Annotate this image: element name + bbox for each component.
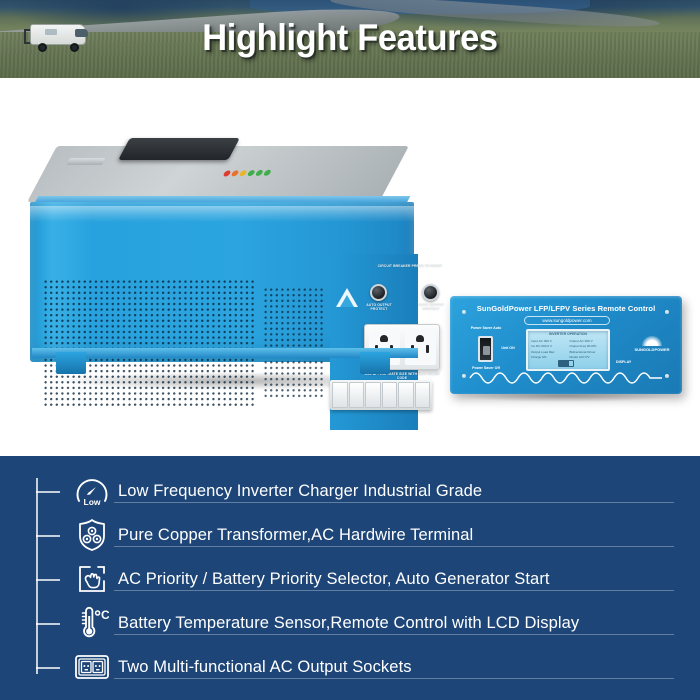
power-saver-auto-label: Power Saver Auto xyxy=(468,326,504,331)
brand-text: SUNGOLDPOWER xyxy=(632,347,672,352)
sungoldpower-logo: SUNGOLDPOWER xyxy=(632,336,672,362)
feature-underline-5 xyxy=(114,678,674,679)
feature-underline-3 xyxy=(114,590,674,591)
lcd-readout-grid: Input AC 000 V Output AC 000 V Inv DC 00… xyxy=(531,339,605,360)
remote-screw-top-right xyxy=(665,310,669,314)
inverter-unit: SGP CIRCUIT BREAKER PRESS TO RESET AUTO … xyxy=(28,140,438,400)
inverter-body-highlight xyxy=(30,206,414,222)
feature-tick-2 xyxy=(36,535,60,537)
remote-screw-top-left xyxy=(462,310,466,314)
feature-text: Two Multi-functional AC Output Sockets xyxy=(114,658,412,677)
socket-ground-pin xyxy=(416,335,424,342)
warning-triangle-inner xyxy=(340,295,354,307)
socket-slot-right xyxy=(426,345,429,353)
lcd-row: Output AC 000 V xyxy=(570,339,606,343)
feature-item-low-frequency[interactable]: Low Low Frequency Inverter Charger Indus… xyxy=(70,472,690,510)
lcd-row: Inv DC 000.0 V xyxy=(531,344,567,348)
lcd-row: Charge 0/0 xyxy=(531,355,567,359)
lcd-row: Bidirectional Driver xyxy=(570,350,606,354)
ac-hardwire-terminal-block xyxy=(330,380,432,410)
feature-tick-4 xyxy=(36,623,60,625)
breaker-1-label: AUTO OUTPUT PROTECT xyxy=(360,303,398,312)
remote-control-panel: SunGoldPower LFP/LFPV Series Remote Cont… xyxy=(450,296,682,394)
socket-ground-pin xyxy=(380,335,388,342)
features-panel: Low Low Frequency Inverter Charger Indus… xyxy=(0,456,700,700)
sine-wave-icon xyxy=(468,368,664,388)
feature-item-ac-output-sockets[interactable]: Two Multi-functional AC Output Sockets xyxy=(70,648,690,686)
lcd-battery-icon xyxy=(558,360,574,367)
gauge-low-frequency-icon: Low xyxy=(70,472,114,510)
feature-text: Battery Temperature Sensor,Remote Contro… xyxy=(114,614,579,633)
feature-text: Low Frequency Inverter Charger Industria… xyxy=(114,482,482,501)
highlight-features-infographic: Highlight Features SGP CIRCUIT BREAKER P… xyxy=(0,0,700,700)
header-banner: Highlight Features xyxy=(0,0,700,78)
remote-title: SunGoldPower LFP/LFPV Series Remote Cont… xyxy=(450,304,682,313)
feature-tick-1 xyxy=(36,491,60,493)
feature-tick-3 xyxy=(36,579,60,581)
inverter-body: SGP CIRCUIT BREAKER PRESS TO RESET AUTO … xyxy=(30,202,414,362)
dual-ac-socket-icon xyxy=(70,648,114,686)
lcd-row: Model LFP-PV xyxy=(570,355,606,359)
svg-text:C: C xyxy=(101,608,109,622)
breaker-2-label: AUTO OUTPUT PROTECT xyxy=(412,303,450,312)
shield-copper-transformer-icon xyxy=(70,516,114,554)
remote-url-label: www.sungoldpower.com xyxy=(524,316,610,325)
feature-text: AC Priority / Battery Priority Selector,… xyxy=(114,570,550,589)
feature-underline-1 xyxy=(114,502,674,503)
product-photo-area: SGP CIRCUIT BREAKER PRESS TO RESET AUTO … xyxy=(0,78,700,456)
circuit-breaker-button-2[interactable] xyxy=(422,284,439,301)
inverter-top-vent-slot xyxy=(66,158,106,165)
feature-underline-4 xyxy=(114,634,674,635)
circuit-breaker-reset-label: CIRCUIT BREAKER PRESS TO RESET xyxy=(360,264,460,268)
inverter-vent-grid-secondary xyxy=(264,288,324,400)
display-label: DISPLAY xyxy=(616,360,631,364)
sun-icon xyxy=(642,336,662,346)
page-title: Highlight Features xyxy=(25,17,676,59)
power-rocker-switch[interactable] xyxy=(478,336,493,362)
feature-item-copper-transformer[interactable]: Pure Copper Transformer,AC Hardwire Term… xyxy=(70,516,690,554)
lcd-row: Input AC 000 V xyxy=(531,339,567,343)
feature-underline-2 xyxy=(114,546,674,547)
feature-text: Pure Copper Transformer,AC Hardwire Term… xyxy=(114,526,473,545)
led-indicator-row xyxy=(222,169,288,177)
lcd-header: INVERTER OPERATION xyxy=(528,332,608,336)
thermometer-celsius-icon: C xyxy=(70,604,114,642)
unit-on-label: Unit ON xyxy=(496,346,520,351)
feature-item-temperature-sensor[interactable]: C Battery Temperature Sensor,Remote Cont… xyxy=(70,604,690,642)
inverter-mounting-foot-right xyxy=(360,352,390,374)
circuit-breaker-button-1[interactable] xyxy=(370,284,387,301)
lcd-row: Output Load 0kw xyxy=(531,350,567,354)
remote-screw-bottom-right xyxy=(665,374,669,378)
battery-terminal-cover xyxy=(118,138,240,160)
lcd-row: Output Freq 00.0Hz xyxy=(570,344,606,348)
hand-selector-icon xyxy=(70,560,114,598)
feature-tick-5 xyxy=(36,667,60,669)
remote-screw-bottom-left xyxy=(462,374,466,378)
feature-bracket-line xyxy=(36,478,38,674)
feature-item-priority-selector[interactable]: AC Priority / Battery Priority Selector,… xyxy=(70,560,690,598)
gauge-icon-label: Low xyxy=(84,497,101,507)
inverter-mounting-foot-left xyxy=(56,352,86,374)
remote-lcd-display: INVERTER OPERATION Input AC 000 V Output… xyxy=(526,329,610,371)
